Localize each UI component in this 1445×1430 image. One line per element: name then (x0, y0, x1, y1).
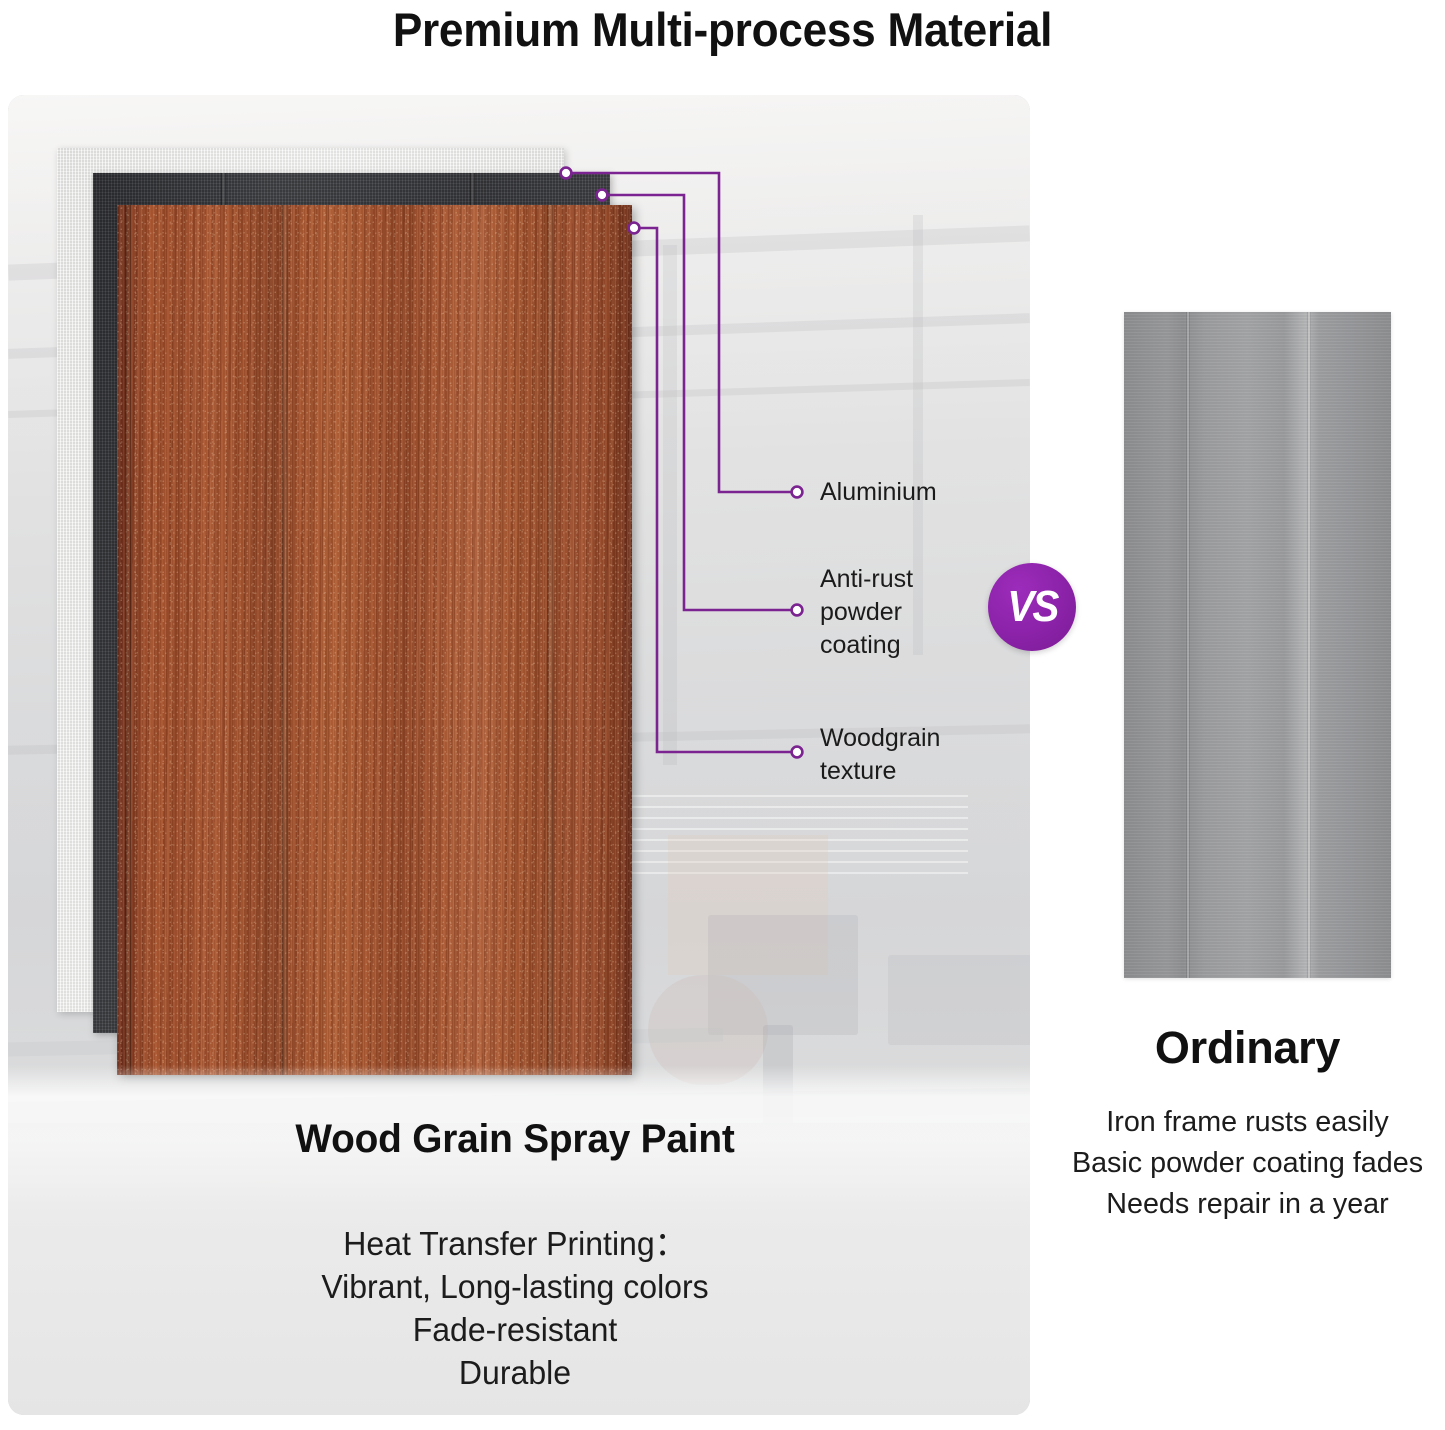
premium-product-features: Heat Transfer Printing： Vibrant, Long-la… (0, 1222, 1030, 1394)
callout-label-woodgrain-texture: Woodgrain texture (820, 722, 940, 788)
drawback-item: Iron frame rusts easily (1052, 1102, 1443, 1143)
wood-speckle-texture (117, 205, 632, 1075)
premium-product-heading: Wood Grain Spray Paint (15, 1117, 1014, 1162)
ordinary-product-drawbacks: Iron frame rusts easily Basic powder coa… (1050, 1102, 1445, 1225)
panel-groove (1186, 312, 1190, 978)
callout-label-anti-rust-powder-coating: Anti-rust powder coating (820, 563, 913, 662)
page-title: Premium Multi-process Material (43, 2, 1401, 57)
feature-item: Fade-resistant (15, 1308, 1014, 1351)
ordinary-frame-panel (1124, 312, 1391, 978)
panel-groove (547, 205, 553, 1075)
feature-item: Durable (15, 1351, 1014, 1394)
vs-badge-label: VS (1007, 582, 1057, 632)
ordinary-product-heading: Ordinary (1050, 1022, 1445, 1074)
panel-groove (282, 205, 288, 1075)
drawback-item: Needs repair in a year (1052, 1184, 1443, 1225)
feature-item: Heat Transfer Printing： (15, 1222, 1014, 1265)
feature-item: Vibrant, Long-lasting colors (15, 1265, 1014, 1308)
panel-groove (1307, 312, 1311, 978)
woodgrain-texture-layer (117, 205, 632, 1075)
callout-label-aluminium: Aluminium (820, 476, 937, 509)
panel-groove (125, 205, 131, 1075)
versus-icon: VS (988, 563, 1076, 651)
drawback-item: Basic powder coating fades (1052, 1143, 1443, 1184)
